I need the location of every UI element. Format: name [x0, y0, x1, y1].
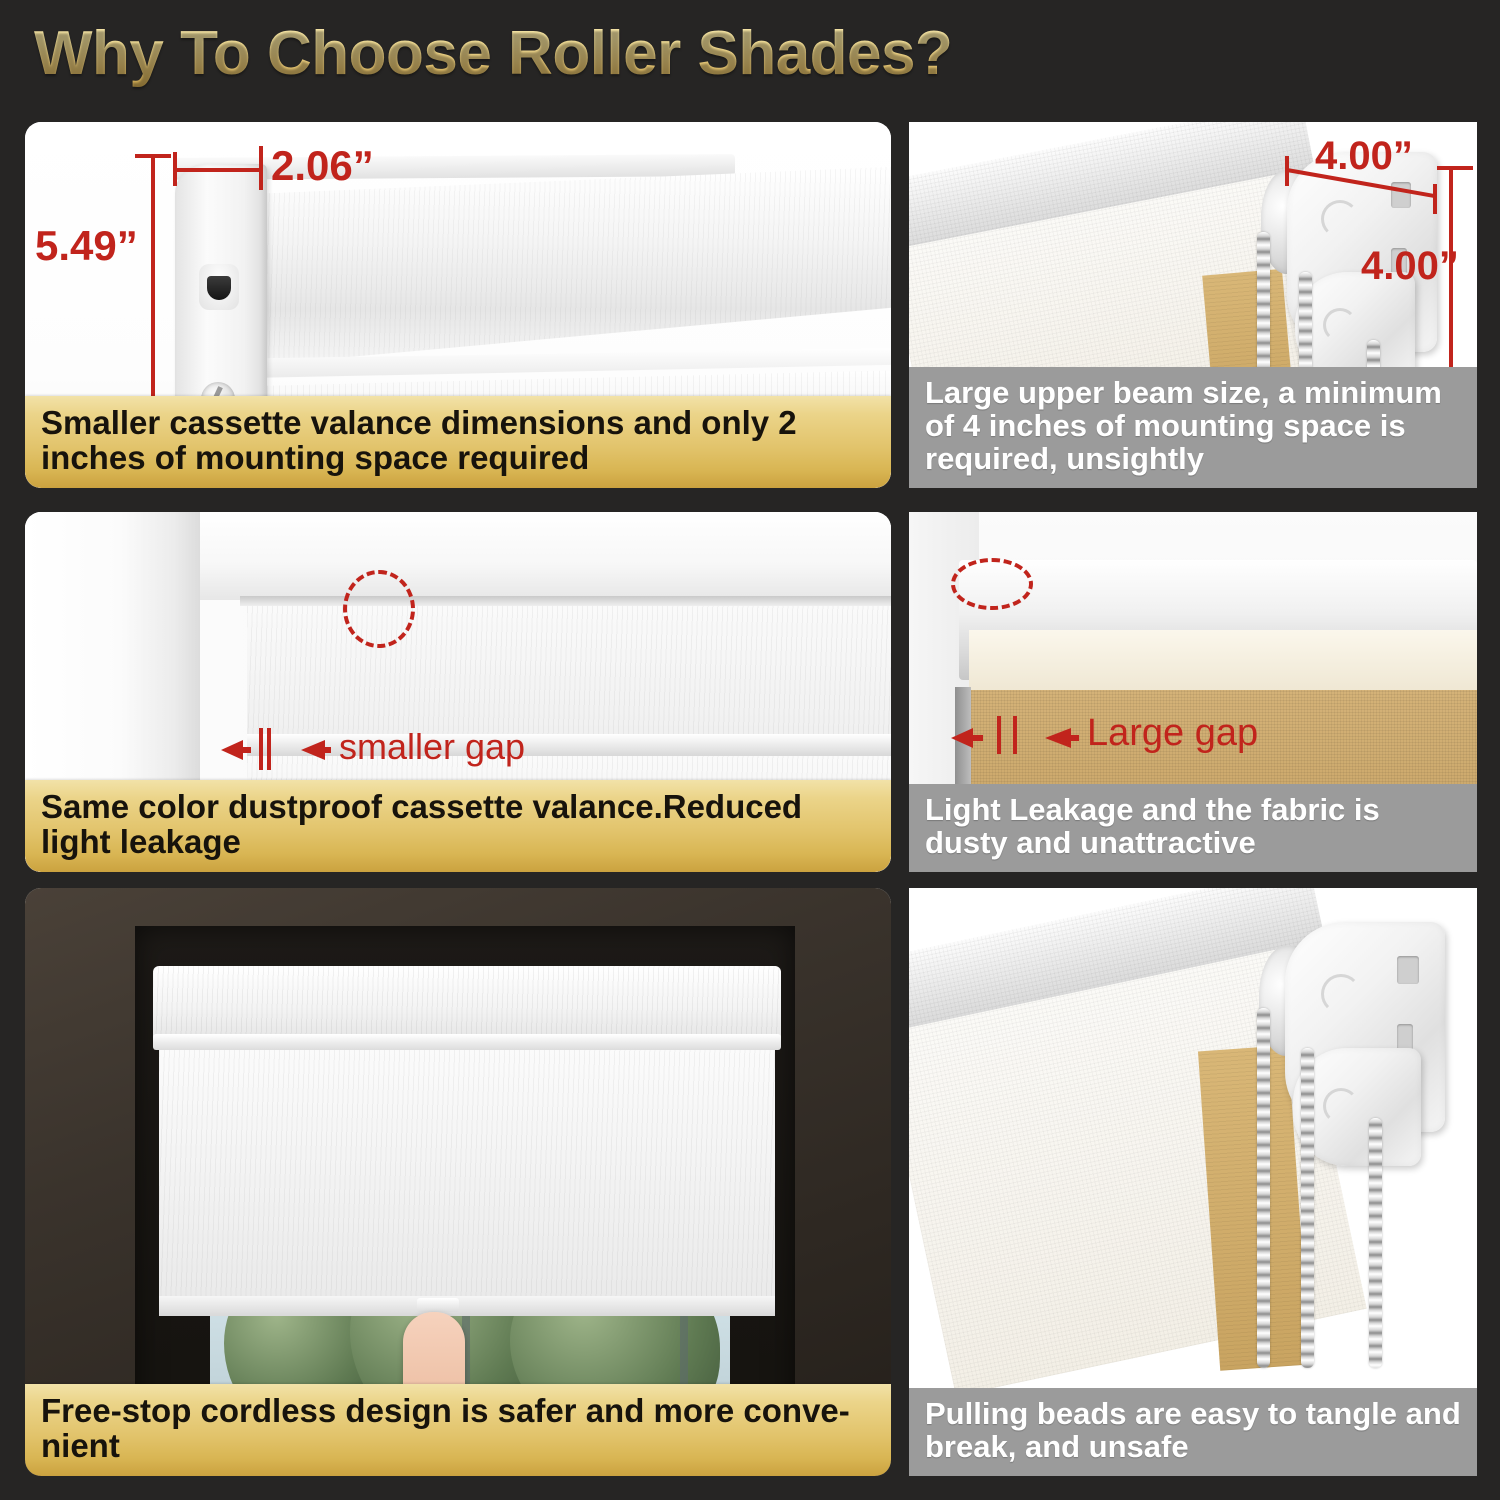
cassette-knob-icon [199, 264, 239, 310]
beam-width-tick-left [1285, 156, 1289, 186]
detail-highlight-circle [951, 558, 1033, 610]
width-dim-bar [173, 168, 263, 172]
cassette-lip-rail [153, 1034, 781, 1050]
panel-pulling-beads: Pulling beads are easy to tangle and bre… [909, 888, 1477, 1476]
bead-chain-2[interactable] [1301, 1048, 1314, 1368]
pull-tab-handle[interactable] [417, 1298, 459, 1312]
height-dim-tick-top [135, 154, 171, 158]
bead-chain-1[interactable] [1257, 1008, 1270, 1368]
panel-smaller-cassette: 2.06” 5.49” Smaller cassette valance dim… [25, 122, 891, 488]
gap-callout-label: Large gap [1087, 712, 1258, 755]
panel-6-caption: Pulling beads are easy to tangle and bre… [909, 1388, 1477, 1476]
panel-dustproof-valance: smaller gap Same color dustproof cassett… [25, 512, 891, 872]
beam-width-label: 4.00” [1315, 134, 1413, 179]
bracket-arc-icon-lower [1323, 308, 1357, 342]
panel-4-caption: Light Leakage and the fabric is dusty an… [909, 784, 1477, 872]
panel-cordless-design: Free-stop cordless design is safer and m… [25, 888, 891, 1476]
cassette-head-rail [153, 966, 781, 1038]
beam-height-label: 4.00” [1361, 244, 1459, 289]
gap-arrow-right-icon [1019, 724, 1083, 754]
shade-fabric-body [159, 1050, 775, 1300]
width-dimension-label: 2.06” [271, 142, 374, 190]
shade-bottom-rail [159, 1296, 775, 1316]
bracket-arc-icon-lower [1323, 1088, 1359, 1124]
bead-chain-3[interactable] [1369, 1118, 1382, 1368]
panel-2-caption: Large upper beam size, a minimum of 4 in… [909, 367, 1477, 488]
beam-height-tick-top [1437, 166, 1473, 170]
panel-1-caption: Smaller cassette valance dimensions and … [25, 396, 891, 488]
panel-large-beam: 4.00” 4.00” Large upper beam size, a min… [909, 122, 1477, 488]
bracket-slot-top [1397, 956, 1419, 984]
bracket-arc-icon [1321, 200, 1359, 238]
width-dim-tick-left [173, 152, 177, 186]
height-dimension-label: 5.49” [35, 222, 138, 270]
detail-highlight-circle [343, 570, 415, 648]
panel-light-leakage: Large gap Light Leakage and the fabric i… [909, 512, 1477, 872]
valance-face [247, 606, 891, 734]
window-head-trim [185, 512, 891, 600]
valance-top-shadow [240, 596, 891, 606]
page-title: Why To Choose Roller Shades? [34, 18, 952, 89]
panel-5-caption: Free-stop cordless design is safer and m… [25, 1384, 891, 1476]
beam-valance-face [969, 630, 1477, 692]
width-dim-tick-right [259, 146, 263, 190]
panel-3-caption: Same color dustproof cassette valance.Re… [25, 780, 891, 872]
gap-arrow-right-icon [275, 736, 335, 766]
beam-width-tick-right [1433, 184, 1437, 214]
gap-callout-label: smaller gap [339, 726, 525, 768]
bracket-arc-icon [1321, 974, 1361, 1014]
